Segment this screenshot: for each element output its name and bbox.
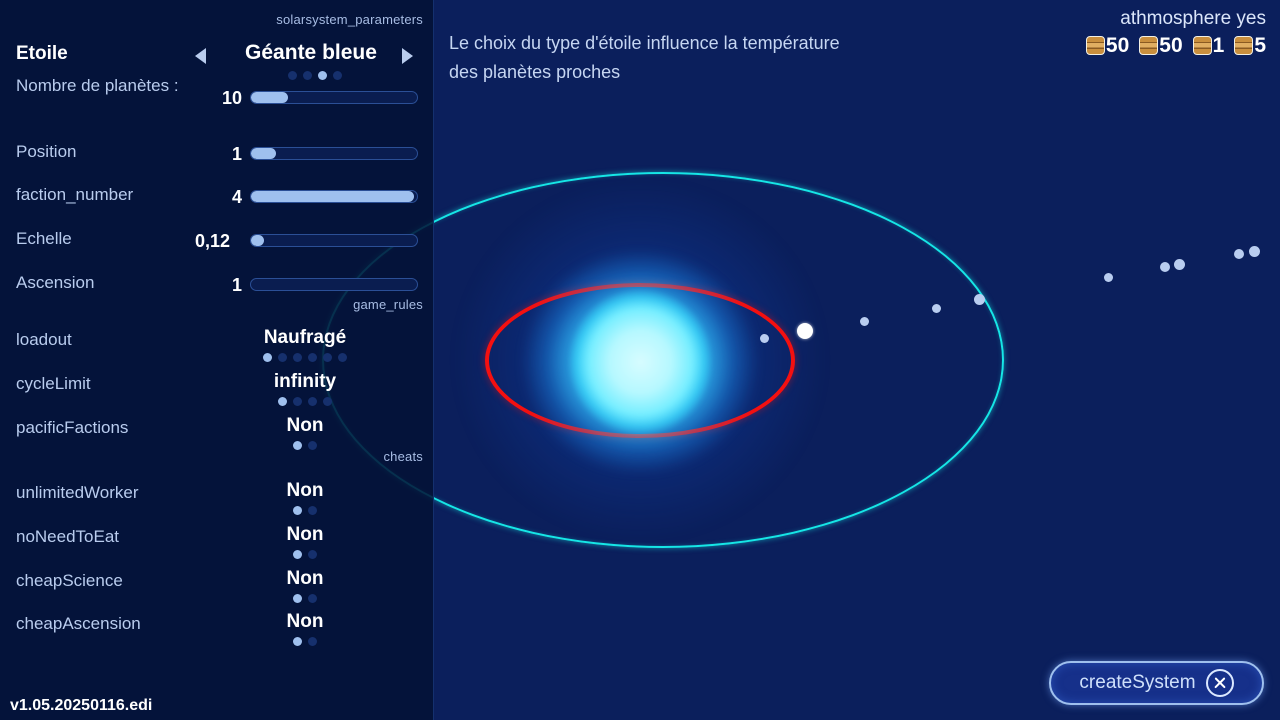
section-header-solarsystem: solarsystem_parameters: [276, 12, 423, 27]
cheat-pager-0[interactable]: [293, 506, 317, 515]
slider-value-0: 10: [190, 88, 242, 109]
version-label: v1.05.20250116.edi: [10, 697, 152, 715]
cheat-pager-2[interactable]: [293, 594, 317, 603]
pager-dot[interactable]: [308, 441, 317, 450]
resource-item-1: 50: [1139, 36, 1182, 55]
crate-icon: [1193, 36, 1212, 55]
cheat-value-1: Non: [240, 524, 370, 546]
slider-value-2: 4: [190, 187, 242, 208]
star-core: [568, 288, 713, 436]
pager-dot[interactable]: [308, 397, 317, 406]
planet-5[interactable]: [974, 294, 985, 305]
pager-dot[interactable]: [293, 397, 302, 406]
resource-bar: athmosphere yes 505015: [1086, 8, 1266, 55]
crate-icon: [1234, 36, 1253, 55]
game-rule-label-0: loadout: [16, 330, 72, 350]
pager-dot[interactable]: [308, 637, 317, 646]
cheat-row-3[interactable]: cheapAscensionNon: [0, 611, 434, 641]
slider-track-1[interactable]: [250, 147, 418, 160]
parameters-panel: solarsystem_parameters Etoile Géante ble…: [0, 0, 434, 720]
pager-dot[interactable]: [278, 353, 287, 362]
pager-dot[interactable]: [308, 594, 317, 603]
cheat-label-0: unlimitedWorker: [16, 483, 139, 503]
pager-dot[interactable]: [293, 506, 302, 515]
cheat-value-2: Non: [240, 568, 370, 590]
game-rule-row-0[interactable]: loadoutNaufragé: [0, 327, 434, 357]
pager-dot[interactable]: [338, 353, 347, 362]
pager-dot[interactable]: [293, 594, 302, 603]
pager-dot[interactable]: [308, 506, 317, 515]
planet-9[interactable]: [1234, 249, 1244, 259]
planet-8[interactable]: [1174, 259, 1185, 270]
section-header-game-rules: game_rules: [353, 297, 423, 312]
resource-amount-1: 50: [1159, 36, 1182, 55]
cheat-value-0: Non: [240, 480, 370, 502]
resource-amount-3: 5: [1254, 36, 1266, 55]
slider-value-3: 0,12: [178, 231, 230, 252]
pager-dot[interactable]: [323, 353, 332, 362]
slider-row-0[interactable]: Nombre de planètes :10: [0, 78, 434, 108]
planet-4[interactable]: [932, 304, 941, 313]
slider-track-3[interactable]: [250, 234, 418, 247]
slider-track-4[interactable]: [250, 278, 418, 291]
pager-dot[interactable]: [293, 441, 302, 450]
resource-item-3: 5: [1234, 36, 1266, 55]
resource-item-0: 50: [1086, 36, 1129, 55]
create-system-label: createSystem: [1079, 672, 1195, 694]
resource-list: 505015: [1086, 36, 1266, 55]
atmosphere-status: athmosphere yes: [1086, 8, 1266, 30]
slider-fill-2: [251, 191, 414, 202]
pager-dot[interactable]: [278, 397, 287, 406]
pager-dot[interactable]: [308, 353, 317, 362]
slider-track-2[interactable]: [250, 190, 418, 203]
slider-fill-0: [251, 92, 288, 103]
pager-dot[interactable]: [293, 550, 302, 559]
game-rule-pager-2[interactable]: [293, 441, 317, 450]
planet-3[interactable]: [860, 317, 869, 326]
slider-row-1[interactable]: Position1: [0, 134, 434, 164]
slider-value-1: 1: [190, 144, 242, 165]
create-system-button[interactable]: createSystem: [1049, 661, 1264, 705]
game-rule-label-1: cycleLimit: [16, 374, 91, 394]
planet-6[interactable]: [1104, 273, 1113, 282]
game-rule-value-2: Non: [240, 415, 370, 437]
hint-text: Le choix du type d'étoile influence la t…: [449, 29, 869, 87]
game-rule-pager-1[interactable]: [278, 397, 332, 406]
next-star-arrow-icon[interactable]: [402, 48, 413, 64]
slider-row-3[interactable]: Echelle0,12: [0, 221, 434, 251]
game-rule-row-2[interactable]: pacificFactionsNon: [0, 415, 434, 445]
cheat-row-1[interactable]: noNeedToEatNon: [0, 524, 434, 554]
pager-dot[interactable]: [293, 353, 302, 362]
game-rule-label-2: pacificFactions: [16, 418, 128, 438]
cheat-label-1: noNeedToEat: [16, 527, 119, 547]
slider-track-0[interactable]: [250, 91, 418, 104]
game-rule-row-1[interactable]: cycleLimitinfinity: [0, 371, 434, 401]
resource-amount-2: 1: [1213, 36, 1225, 55]
planet-1[interactable]: [760, 334, 769, 343]
close-circle-icon[interactable]: [1206, 669, 1234, 697]
planet-7[interactable]: [1160, 262, 1170, 272]
slider-fill-1: [251, 148, 276, 159]
pager-dot[interactable]: [323, 397, 332, 406]
slider-row-2[interactable]: faction_number4: [0, 177, 434, 207]
game-rule-pager-0[interactable]: [263, 353, 347, 362]
slider-row-4[interactable]: Ascension1: [0, 265, 434, 295]
cheat-pager-3[interactable]: [293, 637, 317, 646]
crate-icon: [1139, 36, 1158, 55]
star-selector-label: Etoile: [16, 43, 68, 65]
section-header-cheats: cheats: [383, 449, 423, 464]
star-selector-row[interactable]: Etoile Géante bleue: [0, 43, 434, 73]
cheat-label-2: cheapScience: [16, 571, 123, 591]
slider-fill-3: [251, 235, 264, 246]
cheat-row-2[interactable]: cheapScienceNon: [0, 568, 434, 598]
slider-value-4: 1: [190, 275, 242, 296]
prev-star-arrow-icon[interactable]: [195, 48, 206, 64]
cheat-pager-1[interactable]: [293, 550, 317, 559]
resource-item-2: 1: [1193, 36, 1225, 55]
cheat-label-3: cheapAscension: [16, 614, 141, 634]
cheat-value-3: Non: [240, 611, 370, 633]
pager-dot[interactable]: [308, 550, 317, 559]
resource-amount-0: 50: [1106, 36, 1129, 55]
planet-2[interactable]: [797, 323, 813, 339]
cheat-row-0[interactable]: unlimitedWorkerNon: [0, 480, 434, 510]
planet-10[interactable]: [1249, 246, 1260, 257]
pager-dot[interactable]: [263, 353, 272, 362]
game-rule-value-0: Naufragé: [240, 327, 370, 349]
crate-icon: [1086, 36, 1105, 55]
star-type-value: Géante bleue: [226, 41, 396, 65]
game-rule-value-1: infinity: [240, 371, 370, 393]
pager-dot[interactable]: [293, 637, 302, 646]
